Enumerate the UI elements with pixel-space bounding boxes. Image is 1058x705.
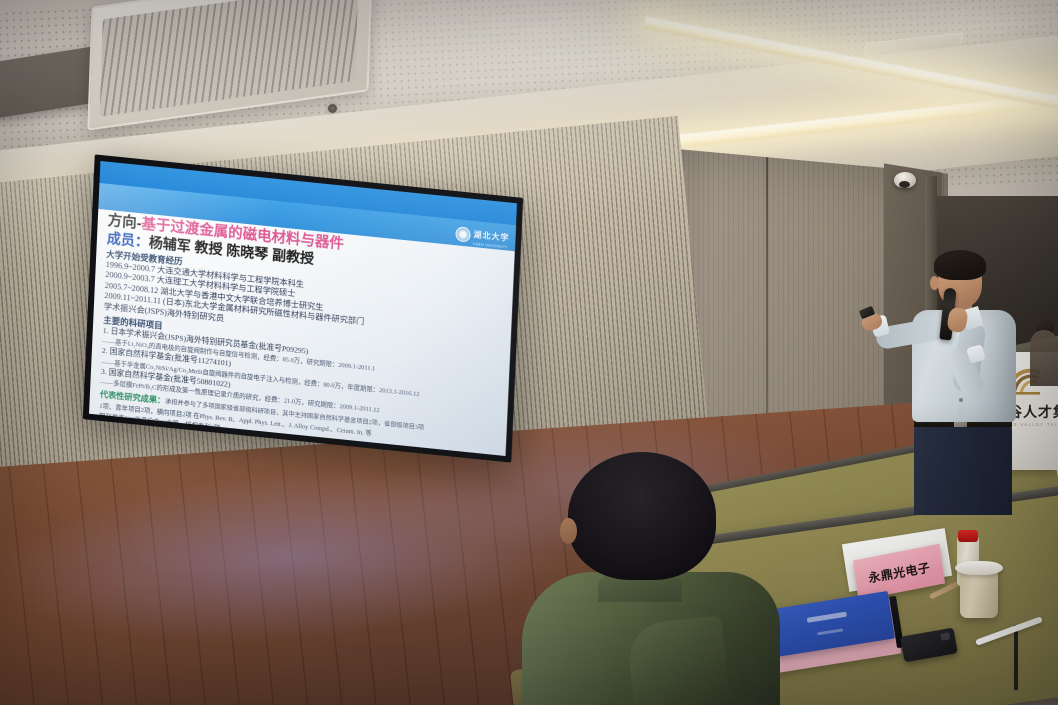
shirt-button-icon — [959, 398, 963, 402]
coffee-cup — [960, 568, 998, 618]
projection-screen[interactable]: 湖北大学 HUBEI UNIVERSITY 方向-基于过渡金属的磁电材料与器件 … — [83, 154, 523, 462]
speaker-ear — [930, 276, 939, 290]
university-logo-text: 湖北大学 HUBEI UNIVERSITY — [473, 224, 510, 250]
name-card-text: 永鼎光电子 — [867, 558, 931, 586]
seated-attendee — [520, 452, 790, 705]
ceiling-spotlight-icon — [328, 104, 337, 113]
far-attendee-body — [1030, 330, 1058, 386]
university-seal-icon — [455, 226, 471, 243]
speaker-hair — [934, 250, 986, 280]
cctv-camera-icon — [894, 172, 916, 188]
members-label: 成员： — [107, 230, 150, 250]
speaker-leg-seam — [1014, 625, 1018, 690]
attendee-hair — [568, 452, 716, 580]
direction-label: 方向- — [107, 213, 141, 232]
attendee-ear — [560, 518, 577, 544]
speaker-person — [860, 250, 1030, 515]
coffee-cup-lid — [955, 561, 1003, 575]
bottle-cap-icon — [958, 530, 978, 542]
speaker-trousers — [914, 425, 1012, 515]
slide-body: 方向-基于过渡金属的磁电材料与器件 成员：杨辅军 教授 陈晓琴 副教授 大学开始… — [89, 209, 515, 456]
presentation-slide: 湖北大学 HUBEI UNIVERSITY 方向-基于过渡金属的磁电材料与器件 … — [89, 183, 516, 456]
conference-room-photo: 湖北大学 HUBEI UNIVERSITY 方向-基于过渡金属的磁电材料与器件 … — [0, 0, 1058, 705]
attendee-shading — [522, 572, 780, 705]
